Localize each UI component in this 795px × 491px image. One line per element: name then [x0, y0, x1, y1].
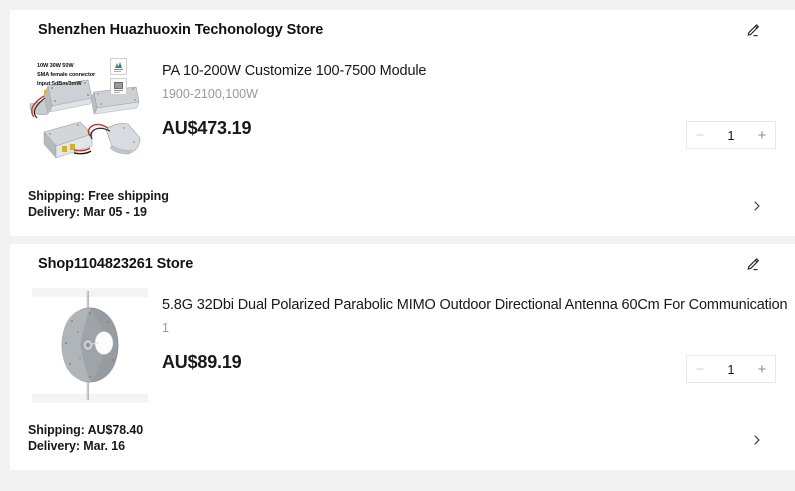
product-thumbnail[interactable] [28, 288, 148, 403]
store-name[interactable]: Shenzhen Huazhuoxin Techonology Store [38, 22, 323, 38]
quantity-stepper[interactable]: − 1 + [686, 355, 776, 383]
product-title[interactable]: 5.8G 32Dbi Dual Polarized Parabolic MIMO… [162, 296, 787, 314]
product-sku: 1 [162, 320, 169, 336]
delivery-estimate: Delivery: Mar. 16 [28, 439, 143, 455]
store-name[interactable]: Shop1104823261 Store [38, 256, 193, 272]
store-card: Shenzhen Huazhuoxin Techonology Store [10, 10, 795, 236]
pencil-edit-icon[interactable] [744, 22, 762, 40]
quantity-increase-button[interactable]: + [749, 356, 775, 382]
quantity-decrease-button[interactable]: − [687, 356, 713, 382]
product-price: AU$473.19 [162, 118, 251, 139]
store-card: Shop1104823261 Store [10, 244, 795, 470]
product-info: PA 10-200W Customize 100-7500 Module 190… [162, 54, 795, 169]
cart-store-list: Shenzhen Huazhuoxin Techonology Store [0, 0, 795, 491]
delivery-estimate: Delivery: Mar 05 - 19 [28, 205, 169, 221]
quantity-value[interactable]: 1 [713, 362, 749, 377]
product-row: 10W 30W 50W SMA female connector Input:5… [10, 54, 795, 169]
chevron-right-icon[interactable] [751, 434, 763, 446]
product-price: AU$89.19 [162, 352, 241, 373]
product-thumbnail[interactable]: 10W 30W 50W SMA female connector Input:5… [28, 54, 148, 169]
pencil-edit-icon[interactable] [744, 256, 762, 274]
shipping-block: Shipping: AU$78.40 Delivery: Mar. 16 [28, 423, 143, 454]
thumbnail-caption: Input:5dBm/3mW [37, 81, 82, 87]
shipping-cost: Shipping: Free shipping [28, 189, 169, 205]
quantity-increase-button[interactable]: + [749, 122, 775, 148]
thumbnail-caption: 10W 30W 50W [37, 63, 74, 69]
quantity-stepper[interactable]: − 1 + [686, 121, 776, 149]
product-sku: 1900-2100,100W [162, 86, 258, 102]
thumbnail-badge-icon [110, 58, 127, 75]
thumbnail-caption: SMA female connector [37, 72, 95, 78]
store-header: Shenzhen Huazhuoxin Techonology Store [10, 22, 795, 48]
chevron-right-icon[interactable] [751, 200, 763, 212]
product-title[interactable]: PA 10-200W Customize 100-7500 Module [162, 62, 426, 80]
shipping-cost: Shipping: AU$78.40 [28, 423, 143, 439]
thumbnail-badge-icon [110, 78, 127, 95]
store-header: Shop1104823261 Store [10, 256, 795, 282]
quantity-value[interactable]: 1 [713, 128, 749, 143]
quantity-decrease-button[interactable]: − [687, 122, 713, 148]
shipping-block: Shipping: Free shipping Delivery: Mar 05… [28, 189, 169, 220]
product-info: 5.8G 32Dbi Dual Polarized Parabolic MIMO… [162, 288, 795, 403]
product-row: 5.8G 32Dbi Dual Polarized Parabolic MIMO… [10, 288, 795, 403]
